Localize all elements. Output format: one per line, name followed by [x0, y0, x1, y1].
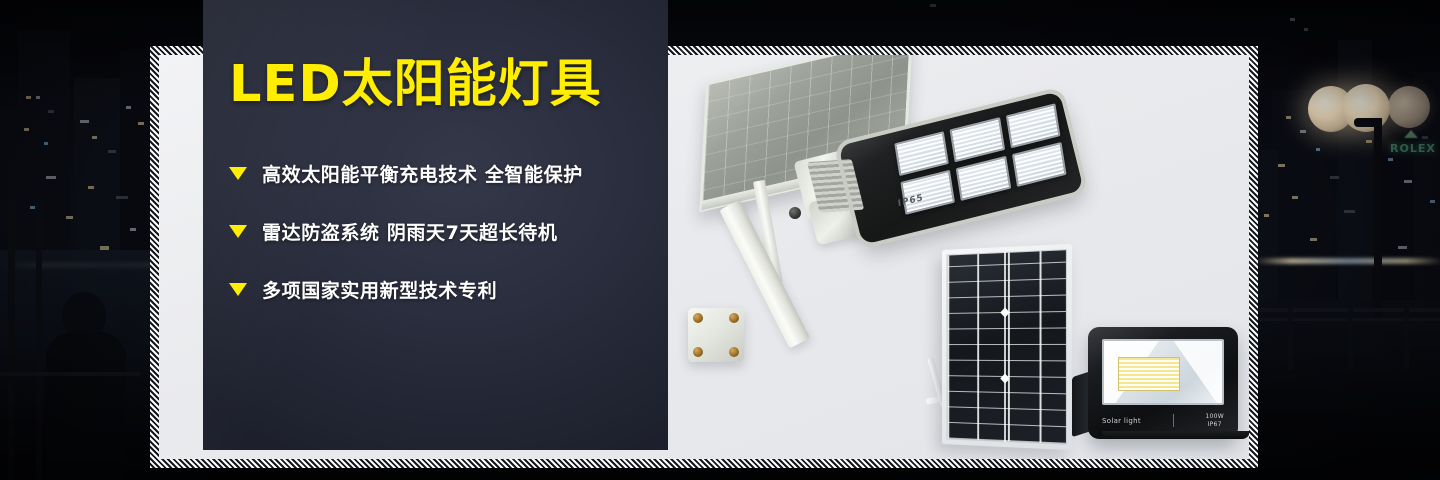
feature-list: 高效太阳能平衡充电技术 全智能保护 雷达防盗系统 阴雨天7天超长待机 多项国家实… [229, 160, 649, 334]
flood-light-base [1102, 431, 1249, 439]
product-flood-light: Solar light 100W IP67 [1072, 327, 1244, 449]
flood-light-label: Solar light 100W IP67 [1102, 413, 1224, 428]
list-item: 高效太阳能平衡充电技术 全智能保护 [229, 160, 649, 186]
flood-light-led-chip [1118, 357, 1180, 391]
street-light-wall-bracket [688, 308, 744, 362]
solar-panel-cells [947, 249, 1067, 445]
bolt-icon [729, 313, 739, 323]
street-light-sensor-icon [789, 207, 801, 219]
bolt-icon [693, 313, 703, 323]
feature-text: 多项国家实用新型技术专利 [262, 276, 497, 303]
product-solar-panel [924, 247, 1074, 455]
triangle-down-icon [229, 225, 247, 238]
flood-light-spec: 100W IP67 [1205, 413, 1224, 428]
flood-light-body: Solar light 100W IP67 [1088, 327, 1238, 439]
flood-light-rating-text: IP67 [1205, 421, 1224, 429]
bolt-icon [693, 347, 703, 357]
label-divider [1173, 414, 1174, 427]
triangle-down-icon [229, 167, 247, 180]
bolt-icon [729, 347, 739, 357]
solar-panel-frame [942, 244, 1072, 450]
list-item: 多项国家实用新型技术专利 [229, 276, 649, 302]
solar-panel-busbar [1004, 252, 1006, 442]
product-images-area: IP65 [672, 55, 1249, 459]
flood-light-power-text: 100W [1205, 413, 1224, 421]
list-item: 雷达防盗系统 阴雨天7天超长待机 [229, 218, 649, 244]
flood-light-lens [1102, 339, 1224, 405]
feature-text: 高效太阳能平衡充电技术 全智能保护 [262, 160, 583, 187]
page-title: LED太阳能灯具 [229, 58, 602, 112]
triangle-down-icon [229, 283, 247, 296]
feature-text: 雷达防盗系统 阴雨天7天超长待机 [262, 218, 557, 245]
flood-light-brand-text: Solar light [1102, 417, 1141, 425]
product-banner: ROLEX LED太阳能灯具 高效太阳能 [0, 0, 1440, 480]
